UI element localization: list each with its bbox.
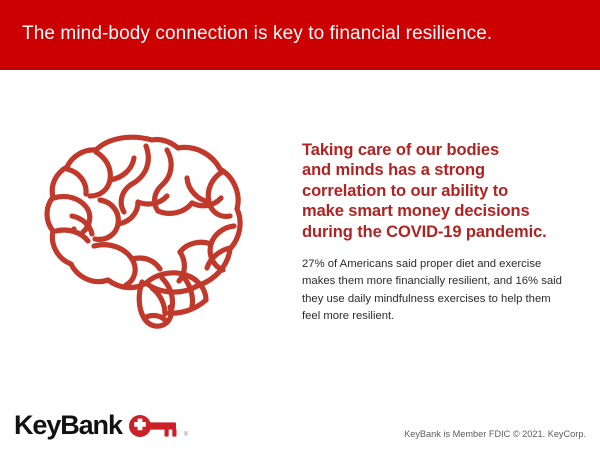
header-banner: The mind-body connection is key to finan… — [0, 0, 600, 70]
headline-line-5: during the COVID-19 pandemic. — [302, 222, 574, 242]
copy-column: Taking care of our bodies and minds has … — [302, 140, 574, 326]
headline-line-1: Taking care of our bodies — [302, 140, 574, 160]
infographic-canvas: The mind-body connection is key to finan… — [0, 0, 600, 450]
footer-disclaimer: KeyBank is Member FDIC © 2021. KeyCorp. — [404, 428, 586, 440]
banner-title: The mind-body connection is key to finan… — [22, 22, 492, 46]
keybank-logo: KeyBank ® — [14, 409, 188, 441]
keybank-wordmark: KeyBank — [14, 412, 122, 439]
headline-line-2: and minds has a strong — [302, 160, 574, 180]
headline: Taking care of our bodies and minds has … — [302, 140, 574, 242]
headline-line-4: make smart money decisions — [302, 201, 574, 221]
brain-icon — [34, 128, 249, 333]
body-paragraph: 27% of Americans said proper diet and ex… — [302, 256, 570, 326]
brain-illustration — [34, 128, 249, 333]
registered-trademark-mark: ® — [184, 432, 188, 438]
headline-line-3: correlation to our ability to — [302, 181, 574, 201]
key-icon-glyph — [127, 413, 183, 439]
key-icon — [127, 413, 183, 439]
